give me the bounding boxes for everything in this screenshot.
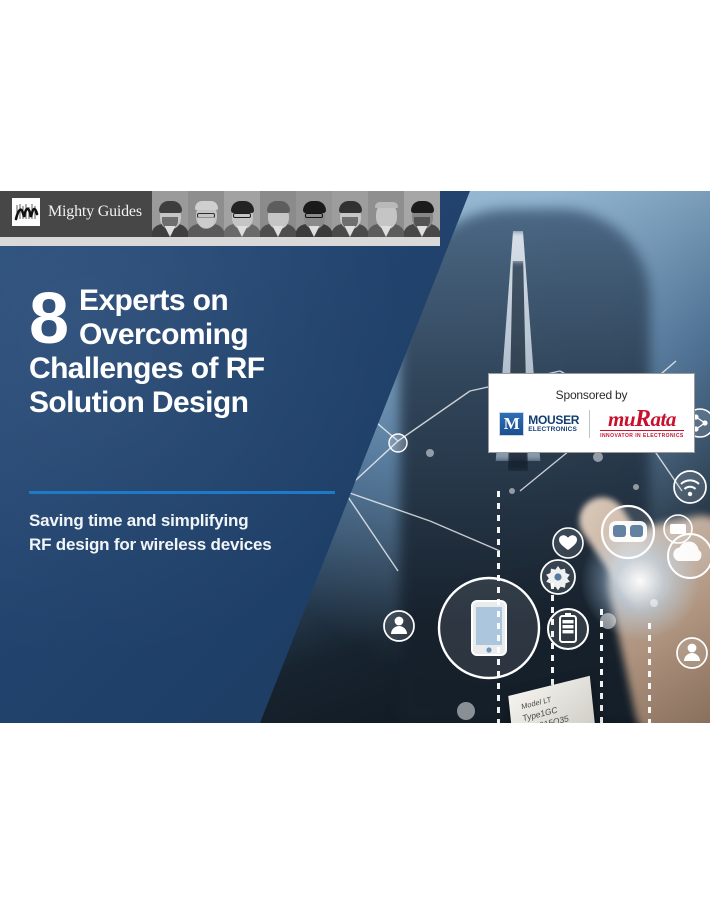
mouser-electronics-logo: M MOUSER ELECTRONICS — [499, 412, 579, 436]
expert-headshots-strip — [152, 191, 440, 237]
headline-lines-1-2: Experts on Overcoming — [79, 284, 248, 352]
mouser-m-letter: M — [500, 413, 523, 435]
sponsor-logos: M MOUSER ELECTRONICS muRata INNOVATOR IN… — [499, 409, 683, 439]
murata-name-prefix: mu — [608, 407, 635, 431]
sponsor-box: Sponsored by M MOUSER ELECTRONICS muRata… — [488, 373, 695, 453]
mouser-wordmark: MOUSER ELECTRONICS — [528, 414, 579, 434]
murata-name-cap: R — [635, 406, 651, 432]
headshot-3 — [224, 191, 260, 237]
murata-wordmark: muRata — [600, 409, 684, 429]
ebook-cover: SS781 1024 1MW 15J ES2.2 B SS2019527 Mod… — [0, 191, 710, 723]
headline-first-block: 8 Experts on Overcoming — [29, 284, 359, 352]
subhead-line-1: Saving time and simplifying — [29, 509, 359, 533]
accent-rule — [29, 491, 335, 494]
sponsor-divider — [589, 410, 590, 438]
mighty-guides-brand: Mighty Guides — [12, 198, 142, 226]
headshot-5 — [296, 191, 332, 237]
subhead-line-2: RF design for wireless devices — [29, 533, 359, 557]
headshot-2 — [188, 191, 224, 237]
headshot-7 — [368, 191, 404, 237]
headline-line-4: Solution Design — [29, 386, 359, 420]
headshot-8 — [404, 191, 440, 237]
mouser-m-icon: M — [499, 412, 524, 436]
sponsored-by-label: Sponsored by — [556, 388, 628, 402]
cover-subheadline: Saving time and simplifying RF design fo… — [29, 509, 359, 557]
mighty-guides-m-monogram-icon — [12, 198, 40, 226]
mouser-name: MOUSER — [528, 414, 579, 426]
headline-lines-3-4: Challenges of RF Solution Design — [29, 352, 359, 420]
headshot-4 — [260, 191, 296, 237]
headline-line-2: Overcoming — [79, 318, 248, 352]
murata-logo: muRata INNOVATOR IN ELECTRONICS — [600, 409, 684, 439]
mouser-subname: ELECTRONICS — [528, 427, 579, 434]
headline-line-3: Challenges of RF — [29, 352, 359, 386]
mighty-guides-wordmark: Mighty Guides — [48, 203, 142, 221]
rf-module-chip-3: Model LT Type1GC SA2015Q35 — [508, 676, 595, 723]
murata-tagline: INNOVATOR IN ELECTRONICS — [600, 433, 684, 439]
headshot-1 — [152, 191, 188, 237]
cover-headline: 8 Experts on Overcoming Challenges of RF… — [29, 284, 359, 420]
murata-name-suffix: ata — [651, 407, 676, 431]
brand-header-bar: Mighty Guides — [0, 191, 440, 237]
headline-number: 8 — [29, 288, 67, 350]
headshot-6 — [332, 191, 368, 237]
headline-line-1: Experts on — [79, 284, 248, 318]
header-accent-strip — [0, 237, 440, 246]
